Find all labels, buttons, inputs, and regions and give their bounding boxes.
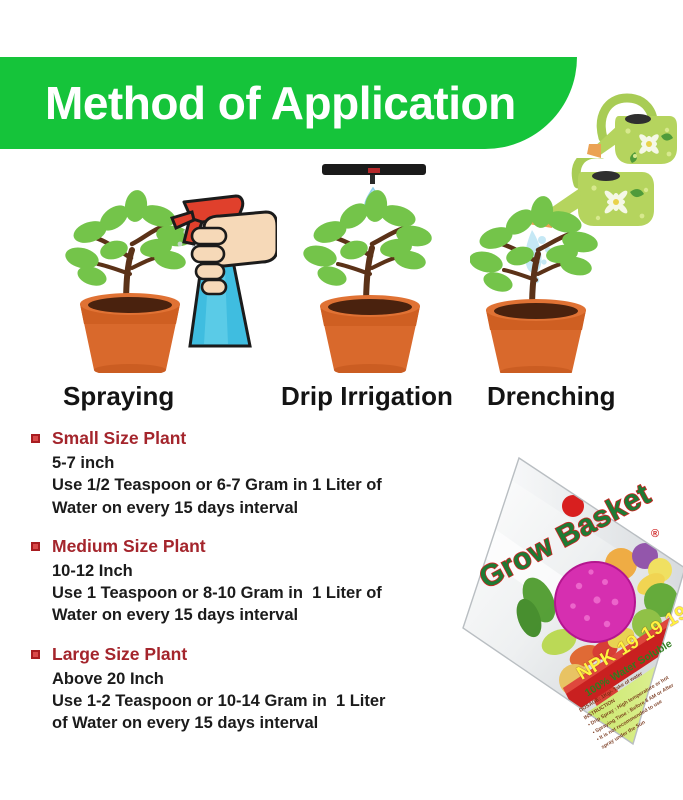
- dosage-line: Water on every 15 days interval: [52, 497, 460, 519]
- flower-pot-icon: [80, 293, 180, 373]
- dosage-item-large: Large Size Plant Above 20 Inch Use 1-2 T…: [30, 643, 460, 735]
- bullet-square-icon: [31, 650, 40, 659]
- bullet-square-icon: [31, 542, 40, 551]
- dosage-title: Large Size Plant: [52, 643, 460, 667]
- dosage-size: 5-7 inch: [52, 452, 460, 474]
- bullet-square-icon: [31, 434, 40, 443]
- registered-trademark-icon: ®: [651, 528, 659, 540]
- illustration-spraying: [52, 158, 277, 373]
- dosage-size: Above 20 Inch: [52, 668, 460, 690]
- dosage-line: Use 1 Teaspoon or 8-10 Gram in 1 Liter o…: [52, 582, 460, 604]
- dosage-item-small: Small Size Plant 5-7 inch Use 1/2 Teaspo…: [30, 427, 460, 519]
- caption-drip-irrigation: Drip Irrigation: [281, 382, 453, 411]
- product-package-image: Grow Basket ® NPK 19 19 19 100% Water So…: [455, 452, 683, 752]
- plant-icon: [301, 189, 433, 308]
- spray-bottle-icon: [172, 196, 277, 346]
- watering-can-icon: [583, 86, 679, 172]
- dosage-size: 10-12 Inch: [52, 560, 460, 582]
- dosage-title: Medium Size Plant: [52, 535, 460, 559]
- caption-spraying: Spraying: [63, 382, 174, 411]
- dosage-line: of Water on every 15 days interval: [52, 712, 460, 734]
- dosage-line: Use 1-2 Teaspoon or 10-14 Gram in 1 Lite…: [52, 690, 460, 712]
- flower-pot-icon: [486, 299, 586, 373]
- illustration-drenching: [470, 158, 660, 373]
- dosage-line: Use 1/2 Teaspoon or 6-7 Gram in 1 Liter …: [52, 474, 460, 496]
- page-title: Method of Application: [45, 80, 516, 126]
- plant-icon: [63, 189, 193, 308]
- dosage-line: Water on every 15 days interval: [52, 604, 460, 626]
- dosage-item-medium: Medium Size Plant 10-12 Inch Use 1 Teasp…: [30, 535, 460, 627]
- flower-pot-icon: [320, 295, 420, 373]
- drip-pipe-icon: [322, 164, 426, 184]
- caption-drenching: Drenching: [487, 382, 616, 411]
- dosage-title: Small Size Plant: [52, 427, 460, 451]
- illustration-drip-irrigation: [290, 158, 475, 373]
- header-banner: Method of Application: [0, 57, 577, 149]
- dosage-list: Small Size Plant 5-7 inch Use 1/2 Teaspo…: [30, 427, 460, 751]
